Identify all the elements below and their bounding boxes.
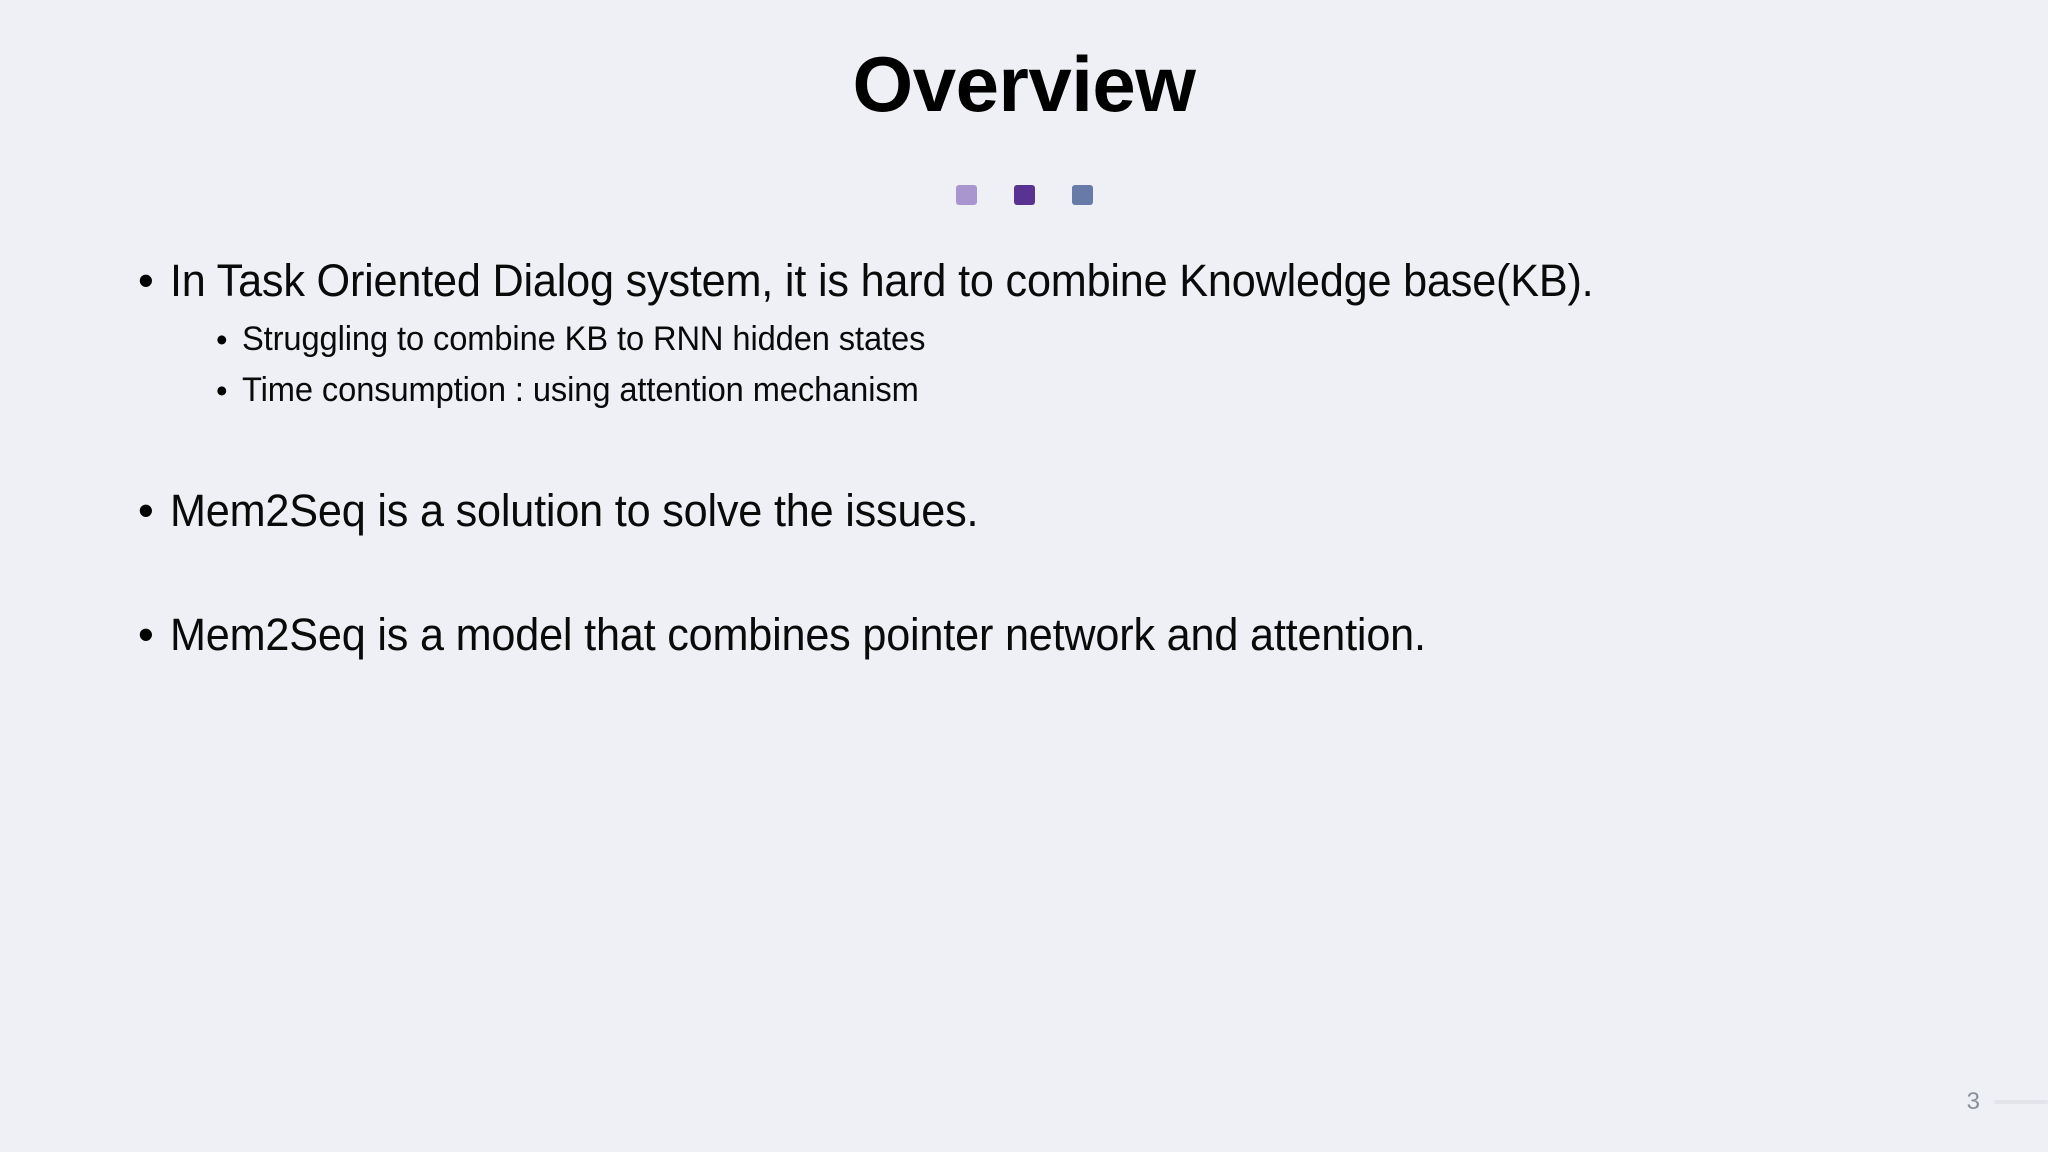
spacer — [130, 544, 1960, 602]
square-light-purple-icon — [956, 185, 977, 205]
bullet-text: Mem2Seq is a model that combines pointer… — [170, 602, 1426, 668]
footer-rule-divider — [1994, 1100, 2048, 1104]
slide-body: • In Task Oriented Dialog system, it is … — [130, 248, 1960, 668]
square-dark-purple-icon — [1014, 185, 1035, 205]
bullet-item-2: • Struggling to combine KB to RNN hidden… — [210, 314, 1960, 365]
square-slate-blue-icon — [1072, 185, 1093, 205]
bullet-dot-icon: • — [130, 602, 170, 668]
slide-canvas: Overview • In Task Oriented Dialog syste… — [0, 0, 2048, 1152]
decorative-squares — [0, 185, 2048, 205]
spacer — [130, 416, 1960, 478]
bullet-item-3: • Time consumption : using attention mec… — [210, 365, 1960, 416]
bullet-text: Mem2Seq is a solution to solve the issue… — [170, 478, 978, 544]
bullet-item-4: • Mem2Seq is a solution to solve the iss… — [130, 478, 1960, 544]
page-title: Overview — [0, 40, 2048, 130]
bullet-dot-icon: • — [130, 248, 170, 314]
bullet-item-1: • In Task Oriented Dialog system, it is … — [130, 248, 1960, 314]
bullet-text: Struggling to combine KB to RNN hidden s… — [242, 314, 925, 365]
bullet-item-5: • Mem2Seq is a model that combines point… — [130, 602, 1960, 668]
bullet-dot-icon: • — [210, 365, 242, 416]
bullet-text: Time consumption : using attention mecha… — [242, 365, 919, 416]
slide-footer: 3 — [1967, 1090, 2048, 1114]
bullet-dot-icon: • — [130, 478, 170, 544]
bullet-text: In Task Oriented Dialog system, it is ha… — [170, 248, 1593, 314]
page-number: 3 — [1967, 1090, 1980, 1114]
bullet-dot-icon: • — [210, 314, 242, 365]
